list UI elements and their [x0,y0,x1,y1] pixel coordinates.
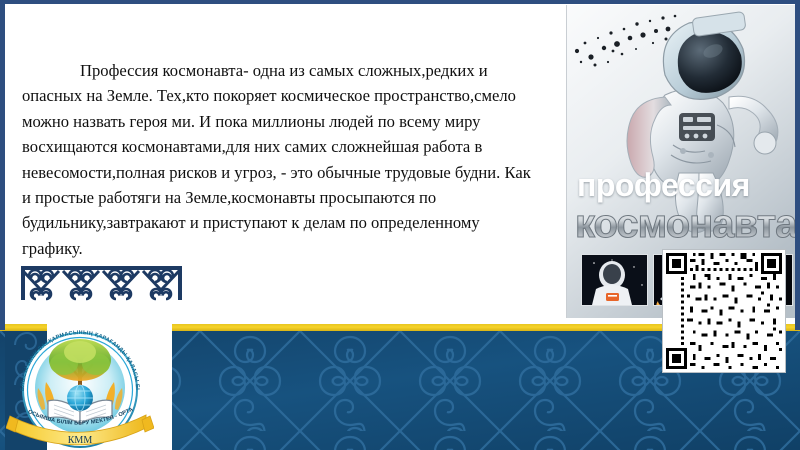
emblem-sub-text: КММ [68,435,93,446]
body-paragraph: Профессия космонавта- одна из самых слож… [22,58,542,261]
photo-title-line1: профессия [577,168,793,202]
presentation-slide: Профессия космонавта- одна из самых слож… [0,0,800,450]
cosmonaut-portrait-thumb[interactable] [581,254,648,306]
slide-border-top [0,0,800,4]
slide-border-right [795,0,800,330]
photo-title-line2: космонавта [575,203,795,245]
slide-border-left [0,0,5,330]
kazakh-ornament-band-icon [21,266,182,304]
qr-code[interactable] [662,249,786,373]
school-emblem-icon: ҚАРАҒАНДЫ ОБЛЫСЫ БІЛІМ БАСҚАРМАСЫНЫҢ ҚАР… [6,316,154,450]
